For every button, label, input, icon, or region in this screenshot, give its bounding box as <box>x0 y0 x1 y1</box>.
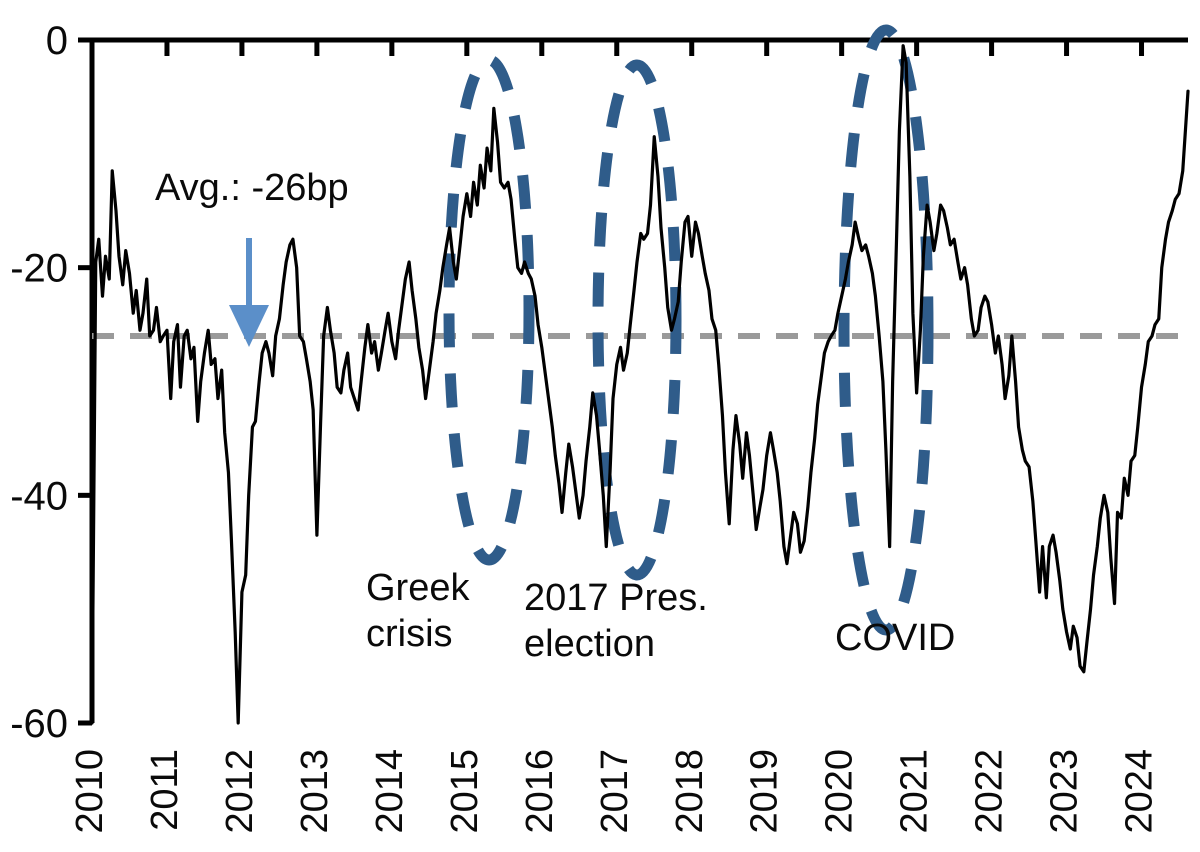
x-axis-tick-label: 2015 <box>444 749 486 834</box>
line-chart: 0-20-40-60 Avg.: -26bpGreekcrisis2017 Pr… <box>0 0 1200 852</box>
x-axis-tick-label: 2019 <box>744 749 786 834</box>
greek-crisis-line1: Greek <box>366 567 470 609</box>
x-axis-tick-label: 2017 <box>594 749 636 834</box>
x-axis-tick-label: 2020 <box>819 749 861 834</box>
x-axis-tick-label: 2014 <box>369 749 411 834</box>
x-axis-tick-label: 2016 <box>519 749 561 834</box>
greek-crisis-line2: crisis <box>366 613 453 655</box>
y-axis-tick-label: -20 <box>10 247 68 291</box>
x-axis-tick-label: 2021 <box>894 749 936 834</box>
covid-line1: COVID <box>835 617 955 659</box>
x-axis-tick-label: 2024 <box>1119 749 1161 834</box>
x-axis-tick-label: 2010 <box>69 749 111 834</box>
pres-election-line2: election <box>524 623 655 665</box>
x-axis-tick-label: 2013 <box>294 749 336 834</box>
y-axis-tick-label: -60 <box>10 702 68 746</box>
x-axis-tick-label: 2012 <box>219 749 261 834</box>
x-axis-tick-label: 2023 <box>1044 749 1086 834</box>
y-axis-tick-label: -40 <box>10 474 68 518</box>
x-axis-tick-label: 2018 <box>669 749 711 834</box>
x-axis-tick-labels: 2010201120122013201420152016201720182019… <box>69 749 1161 834</box>
pres-election-line1: 2017 Pres. <box>524 577 708 619</box>
covid: COVID <box>835 617 955 659</box>
y-axis-tick-label: 0 <box>46 19 68 63</box>
x-axis-tick-label: 2011 <box>144 749 186 831</box>
x-axis-tick-label: 2022 <box>969 749 1011 834</box>
chart-canvas: 0-20-40-60 Avg.: -26bpGreekcrisis2017 Pr… <box>0 0 1200 852</box>
avg-callout-line1: Avg.: -26bp <box>155 167 349 209</box>
avg-callout: Avg.: -26bp <box>155 167 349 209</box>
